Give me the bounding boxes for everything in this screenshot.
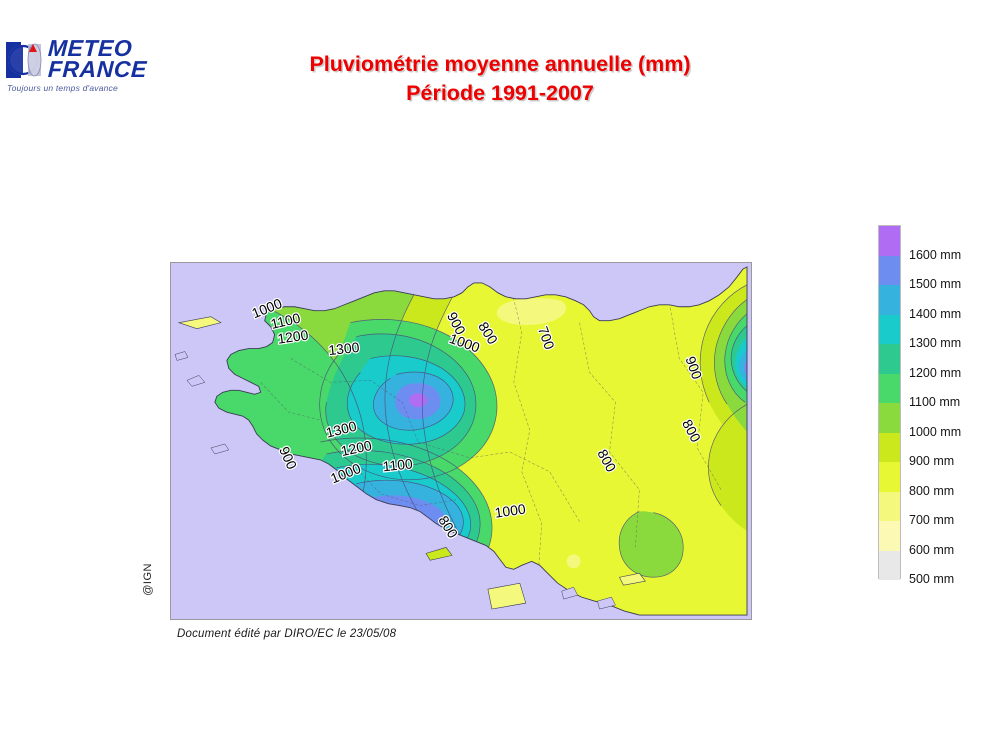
legend-swatch-1600: [879, 226, 900, 256]
band-1600-maximum: [409, 393, 427, 407]
legend-swatch-700: [879, 492, 900, 522]
title-line-1: Pluviométrie moyenne annuelle (mm): [0, 50, 1000, 79]
legend-swatch-1100: [879, 374, 900, 404]
precipitation-map: 1000110012001300900800100070090080080013…: [170, 262, 752, 620]
contour-label-1300: 1300: [328, 339, 361, 358]
legend-swatch-1500: [879, 256, 900, 286]
legend-swatch-1300: [879, 315, 900, 345]
legend-label-800: 800 mm: [909, 484, 954, 498]
legend-label-1100: 1100 mm: [909, 395, 960, 409]
document-note: Document édité par DIRO/EC le 23/05/08: [177, 628, 396, 640]
legend-label-500: 500 mm: [909, 572, 954, 586]
precipitation-contour-map: 1000110012001300900800100070090080080013…: [171, 263, 751, 619]
ign-credit: @IGN: [142, 563, 156, 596]
legend-colorbar: [878, 225, 901, 579]
legend-label-1600: 1600 mm: [909, 248, 961, 262]
contour-label-1100: 1100: [382, 455, 414, 474]
page-title: Pluviométrie moyenne annuelle (mm) Pério…: [0, 50, 1000, 107]
legend: 1600 mm1500 mm1400 mm1300 mm1200 mm1100 …: [878, 225, 998, 585]
legend-label-1200: 1200 mm: [909, 366, 961, 380]
legend-swatch-600: [879, 521, 900, 551]
legend-swatch-1000: [879, 403, 900, 433]
legend-label-1400: 1400 mm: [909, 307, 961, 321]
legend-swatch-800: [879, 462, 900, 492]
legend-swatch-500: [879, 551, 900, 581]
legend-swatch-1400: [879, 285, 900, 315]
legend-swatch-900: [879, 433, 900, 463]
legend-swatch-1200: [879, 344, 900, 374]
legend-label-1500: 1500 mm: [909, 277, 961, 291]
legend-label-700: 700 mm: [909, 513, 954, 527]
title-line-2: Période 1991-2007: [0, 79, 1000, 108]
legend-label-1300: 1300 mm: [909, 336, 961, 350]
legend-label-1000: 1000 mm: [909, 425, 961, 439]
legend-label-600: 600 mm: [909, 543, 954, 557]
band-700-inland-pocket: [567, 554, 581, 568]
legend-label-900: 900 mm: [909, 454, 954, 468]
